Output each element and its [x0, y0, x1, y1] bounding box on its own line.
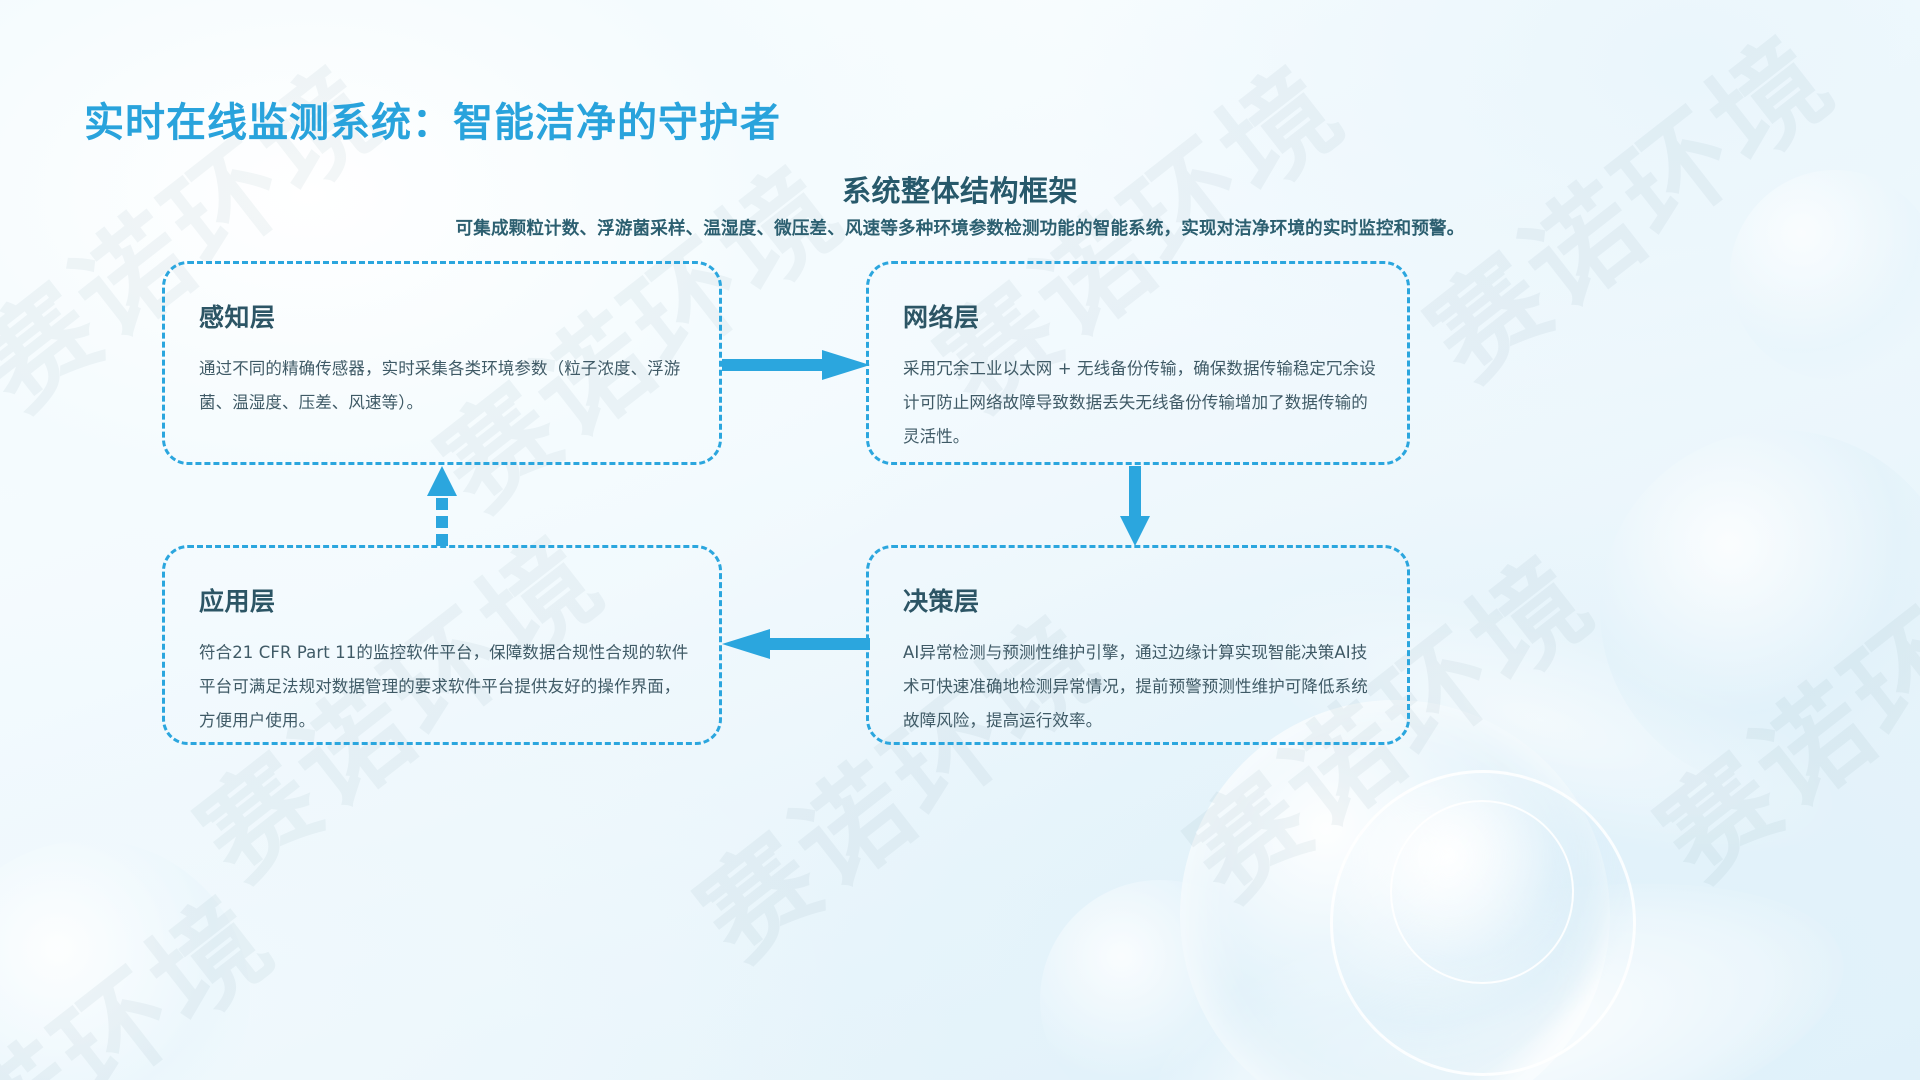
arrow-up-dashed-icon — [425, 466, 459, 546]
card-decide-body: AI异常检测与预测性维护引擎，通过边缘计算实现智能决策AI技术可快速准确地检测异… — [903, 636, 1377, 738]
card-network[interactable]: 网络层 采用冗余工业以太网 + 无线备份传输，确保数据传输稳定冗余设计可防止网络… — [866, 261, 1410, 465]
card-decide[interactable]: 决策层 AI异常检测与预测性维护引擎，通过边缘计算实现智能决策AI技术可快速准确… — [866, 545, 1410, 745]
section-subtitle: 可集成颗粒计数、浮游菌采样、温湿度、微压差、风速等多种环境参数检测功能的智能系统… — [0, 215, 1920, 240]
card-sense-title: 感知层 — [199, 298, 689, 334]
card-app[interactable]: 应用层 符合21 CFR Part 11的监控软件平台，保障数据合规性合规的软件… — [162, 545, 722, 745]
card-sense[interactable]: 感知层 通过不同的精确传感器，实时采集各类环境参数（粒子浓度、浮游菌、温湿度、压… — [162, 261, 722, 465]
card-decide-title: 决策层 — [903, 582, 1377, 618]
arrow-left-icon — [722, 627, 870, 661]
arrow-down-icon — [1118, 466, 1152, 546]
card-app-title: 应用层 — [199, 582, 689, 618]
card-sense-body: 通过不同的精确传感器，实时采集各类环境参数（粒子浓度、浮游菌、温湿度、压差、风速… — [199, 352, 689, 420]
card-network-title: 网络层 — [903, 298, 1377, 334]
arrow-right-icon — [722, 348, 870, 382]
card-app-body: 符合21 CFR Part 11的监控软件平台，保障数据合规性合规的软件平台可满… — [199, 636, 689, 738]
card-network-body: 采用冗余工业以太网 + 无线备份传输，确保数据传输稳定冗余设计可防止网络故障导致… — [903, 352, 1377, 454]
section-heading: 系统整体结构框架 — [0, 168, 1920, 210]
page-title: 实时在线监测系统：智能洁净的守护者 — [84, 90, 781, 148]
